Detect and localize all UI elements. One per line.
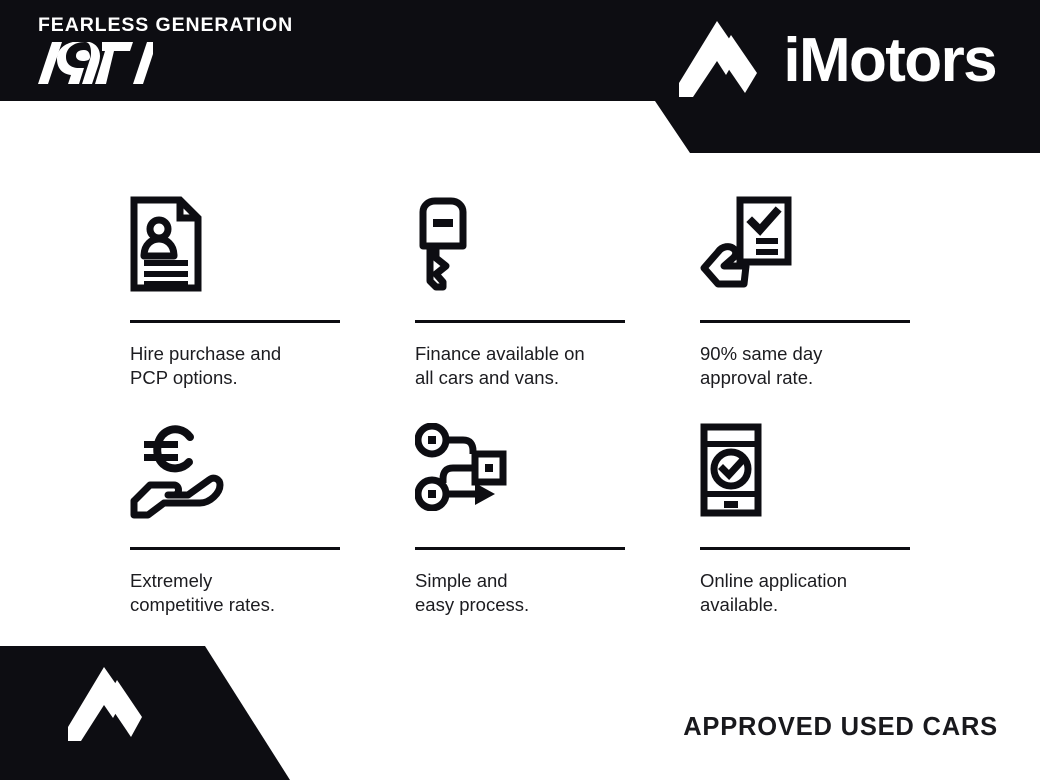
year-1971-logo — [38, 42, 153, 84]
feature-grid: Hire purchase and PCP options. Finance a… — [130, 196, 910, 618]
feature-label: Simple and easy process. — [415, 569, 625, 618]
feature-label: Hire purchase and PCP options. — [130, 342, 340, 391]
euro-in-hand-icon — [130, 423, 340, 531]
campaign-title: FEARLESS GENERATION — [38, 16, 338, 36]
campaign-lockup: FEARLESS GENERATION — [38, 16, 338, 89]
feature-card: Online application available. — [700, 423, 910, 618]
feature-label: Finance available on all cars and vans. — [415, 342, 625, 391]
feature-label: Online application available. — [700, 569, 910, 618]
feature-divider — [700, 547, 910, 550]
feature-card: Simple and easy process. — [415, 423, 625, 618]
feature-label: Extremely competitive rates. — [130, 569, 340, 618]
smartphone-check-icon — [700, 423, 910, 531]
header: FEARLESS GENERATION iMotors — [0, 0, 1040, 155]
feature-divider — [130, 320, 340, 323]
header-background-shape — [0, 0, 1040, 155]
footer-background-shape — [0, 646, 300, 780]
footer-tagline: APPROVED USED CARS — [683, 713, 998, 742]
feature-card: Finance available on all cars and vans. — [415, 196, 625, 391]
marketing-banner: FEARLESS GENERATION iMotors — [0, 0, 1040, 780]
imotors-chevron-logo-icon — [679, 17, 761, 105]
feature-divider — [130, 547, 340, 550]
imotors-chevron-logo-icon — [68, 663, 146, 749]
feature-card: Extremely competitive rates. — [130, 423, 340, 618]
feature-label: 90% same day approval rate. — [700, 342, 910, 391]
car-key-icon — [415, 196, 625, 304]
feature-divider — [415, 320, 625, 323]
document-person-icon — [130, 196, 340, 304]
hand-holding-checklist-icon — [700, 196, 910, 304]
feature-divider — [700, 320, 910, 323]
feature-card: Hire purchase and PCP options. — [130, 196, 340, 391]
process-flowchart-icon — [415, 423, 625, 531]
brand-name: iMotors — [783, 30, 996, 92]
feature-divider — [415, 547, 625, 550]
feature-card: 90% same day approval rate. — [700, 196, 910, 391]
brand-lockup: iMotors — [679, 17, 996, 105]
